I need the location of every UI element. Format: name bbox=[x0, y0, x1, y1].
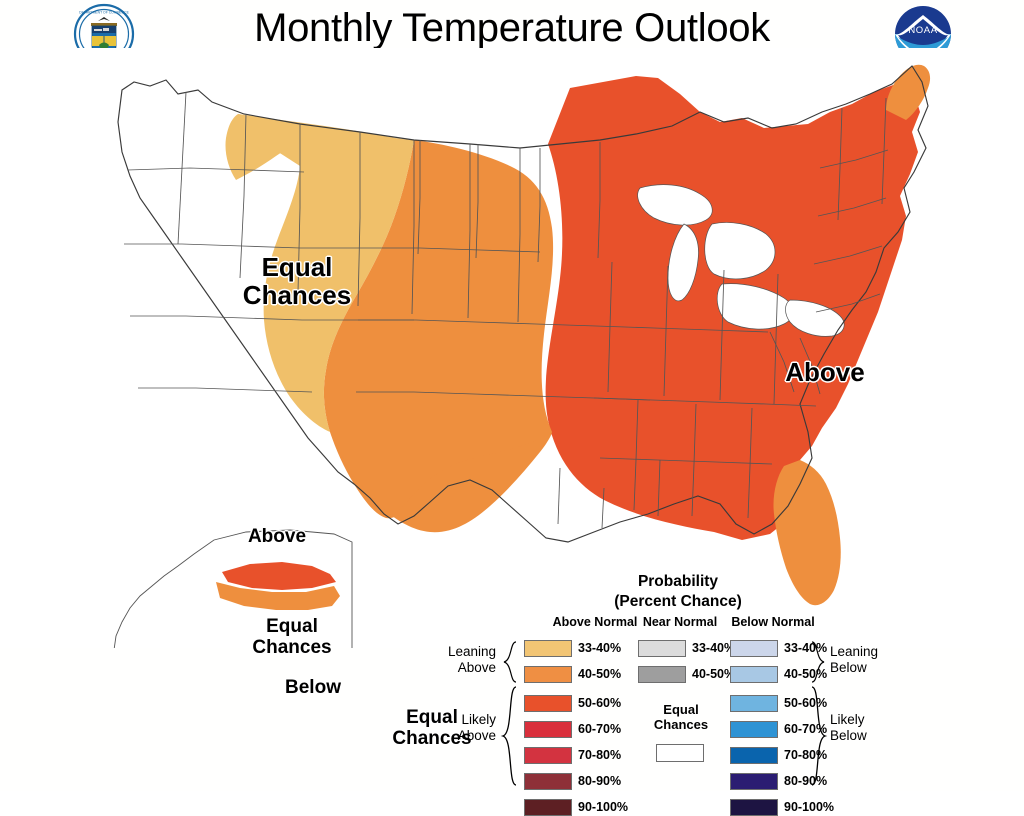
legend-swatch-label-near-33-40: 33-40% bbox=[692, 640, 735, 657]
legend-swatch-above-40-50 bbox=[524, 666, 572, 683]
legend-swatch-label-below-90-100: 90-100% bbox=[784, 799, 834, 816]
legend-column-header-below-normal: Below Normal bbox=[730, 615, 816, 629]
legend-title: Probability (Percent Chance) bbox=[462, 572, 894, 612]
legend-bracket-leaning-above: Leaning Above bbox=[410, 644, 496, 675]
legend-swatch-below-40-50 bbox=[730, 666, 778, 683]
legend-swatch-label-near-40-50: 40-50% bbox=[692, 666, 735, 683]
legend-swatch-below-50-60 bbox=[730, 695, 778, 712]
legend-column-header-near-normal: Near Normal bbox=[642, 615, 718, 629]
map-label-alaska-below: Below bbox=[268, 678, 358, 699]
page-title: Monthly Temperature Outlook bbox=[0, 6, 1024, 51]
legend-swatch-label-above-40-50: 40-50% bbox=[578, 666, 621, 683]
legend-equal-chances-swatch bbox=[656, 744, 704, 762]
probability-legend: Probability (Percent Chance) Above Norma… bbox=[462, 572, 894, 787]
legend-swatch-label-above-60-70: 60-70% bbox=[578, 721, 621, 738]
legend-swatch-below-80-90 bbox=[730, 773, 778, 790]
bracket-likely-below-icon bbox=[810, 685, 828, 787]
legend-swatch-label-above-70-80: 70-80% bbox=[578, 747, 621, 764]
legend-bracket-likely-above: Likely Above bbox=[410, 712, 496, 743]
legend-title-line2: (Percent Chance) bbox=[462, 592, 894, 612]
bracket-leaning-above-icon bbox=[500, 640, 518, 684]
legend-swatch-near-33-40 bbox=[638, 640, 686, 657]
legend-column-header-above-normal: Above Normal bbox=[552, 615, 638, 629]
legend-swatch-above-80-90 bbox=[524, 773, 572, 790]
legend-swatch-label-above-33-40: 33-40% bbox=[578, 640, 621, 657]
bracket-leaning-below-icon bbox=[810, 640, 828, 684]
temperature-outlook-map bbox=[0, 48, 1024, 648]
outlook-map-page: DEPARTMENT OF COMMERCE UNITED STATES OF … bbox=[0, 0, 1024, 791]
legend-swatch-below-90-100 bbox=[730, 799, 778, 816]
legend-swatch-above-50-60 bbox=[524, 695, 572, 712]
legend-bracket-likely-below: Likely Below bbox=[830, 712, 916, 743]
legend-swatch-near-40-50 bbox=[638, 666, 686, 683]
legend-bracket-leaning-below: Leaning Below bbox=[830, 644, 916, 675]
legend-swatch-above-60-70 bbox=[524, 721, 572, 738]
legend-equal-chances-label: Equal Chances bbox=[642, 702, 720, 732]
legend-swatch-label-above-80-90: 80-90% bbox=[578, 773, 621, 790]
legend-title-line1: Probability bbox=[462, 572, 894, 592]
legend-swatch-label-above-50-60: 50-60% bbox=[578, 695, 621, 712]
bracket-likely-above-icon bbox=[500, 685, 518, 787]
legend-swatch-below-60-70 bbox=[730, 721, 778, 738]
legend-swatch-label-above-90-100: 90-100% bbox=[578, 799, 628, 816]
legend-swatch-above-90-100 bbox=[524, 799, 572, 816]
legend-swatch-above-33-40 bbox=[524, 640, 572, 657]
legend-swatch-below-70-80 bbox=[730, 747, 778, 764]
legend-swatch-below-33-40 bbox=[730, 640, 778, 657]
legend-swatch-above-70-80 bbox=[524, 747, 572, 764]
